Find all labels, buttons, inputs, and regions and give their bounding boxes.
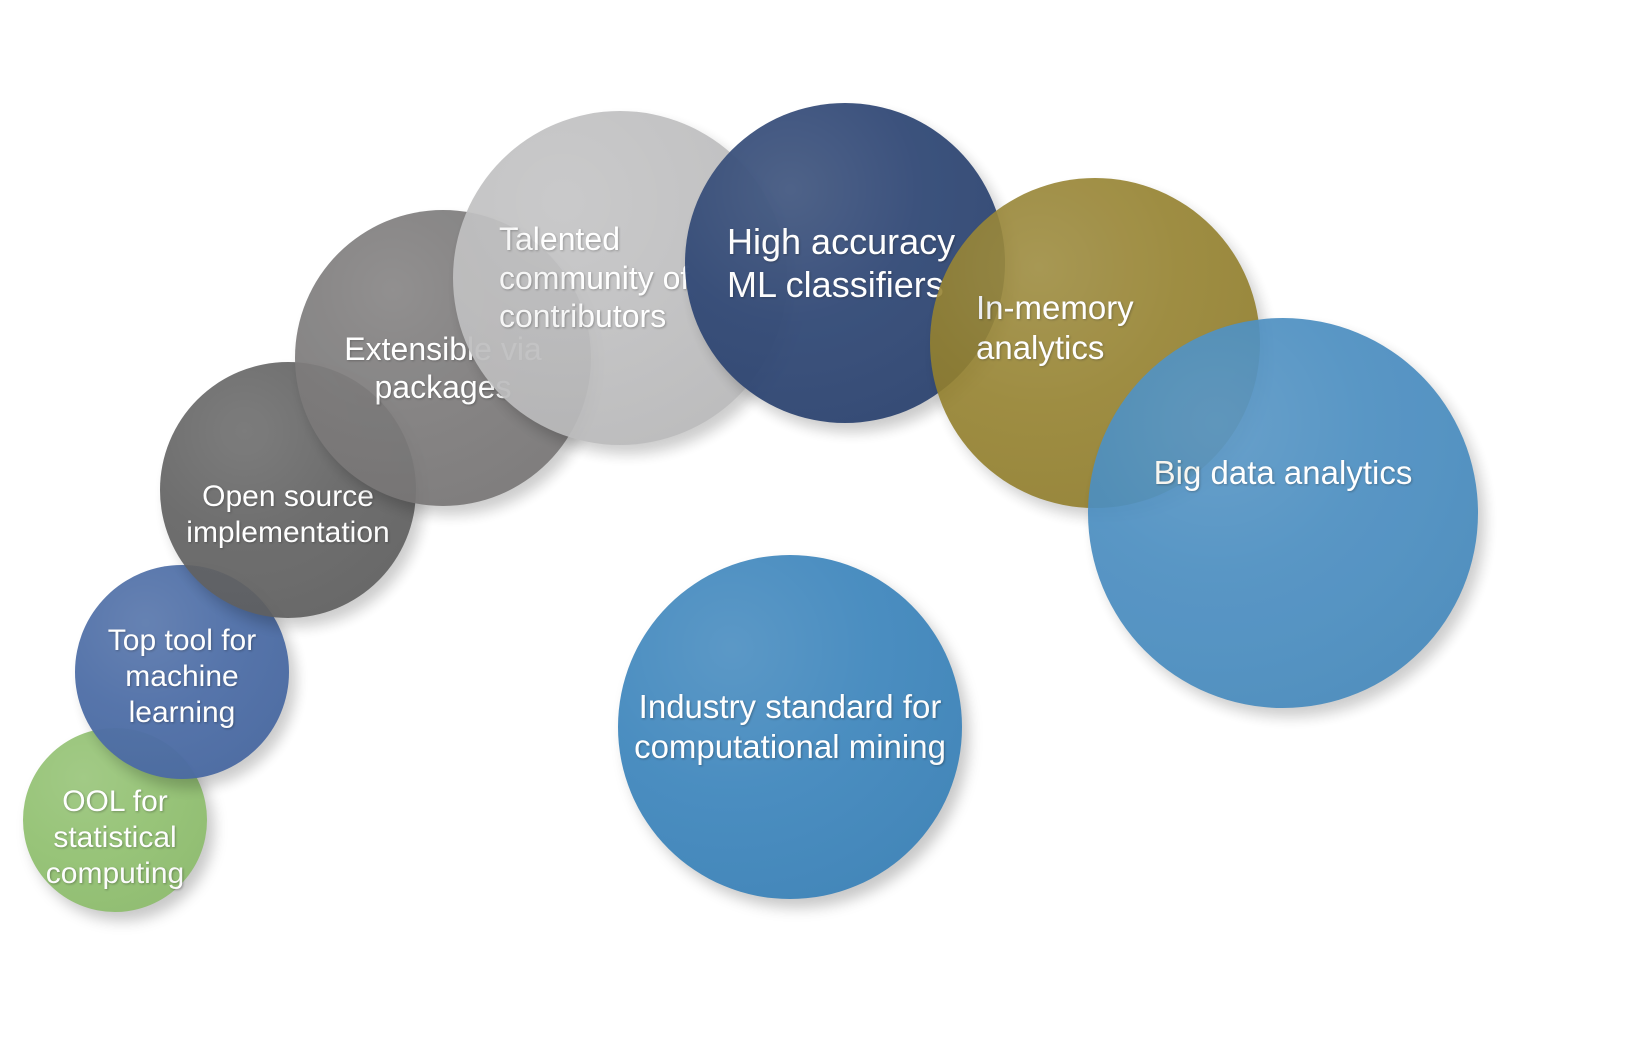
bubble-label: Industry standard for computational mini… — [628, 687, 952, 766]
bubble-label: Big data analytics — [1098, 453, 1468, 493]
bubble-big-data-analytics[interactable]: Big data analytics — [1088, 318, 1478, 708]
bubble-label: OOL for statistical computing — [33, 784, 197, 892]
bubble-label: Open source implementation — [170, 479, 406, 551]
bubble-label: Top tool for machine learning — [85, 623, 279, 731]
bubble-industry-standard-computational-mining[interactable]: Industry standard for computational mini… — [618, 555, 962, 899]
diagram-canvas: OOL for statistical computingTop tool fo… — [0, 0, 1632, 1064]
